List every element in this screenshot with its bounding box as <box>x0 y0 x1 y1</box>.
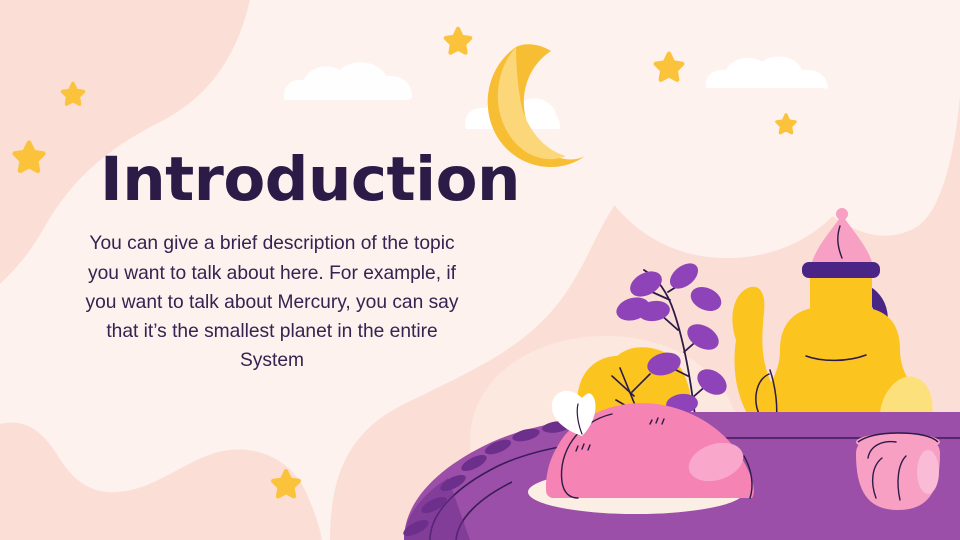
cloud-right-icon <box>706 56 828 88</box>
star-top-right-icon <box>656 54 682 80</box>
cloud-under-moon-icon <box>465 96 560 129</box>
purple-rug-icon <box>401 412 960 540</box>
rug-fringe-dots <box>401 420 571 540</box>
star-top-left-icon <box>63 84 84 105</box>
cloud-left-icon <box>284 62 412 100</box>
blob-bottom-left <box>0 422 322 540</box>
yellow-leaves-icon <box>577 347 691 454</box>
cream-plate-icon <box>528 470 744 514</box>
slide-body-text: You can give a brief description of the … <box>78 229 466 375</box>
slide-canvas: Introduction You can give a brief descri… <box>0 0 960 540</box>
star-top-center-icon <box>446 29 470 53</box>
page-title: Introduction <box>78 148 498 211</box>
pink-cushion-icon <box>546 403 754 498</box>
purple-leaf-branch-icon <box>614 258 732 424</box>
white-heart-leaf-icon <box>552 391 596 436</box>
pink-cup-icon <box>856 433 940 510</box>
yellow-teapot-icon <box>732 208 940 498</box>
cream-halo <box>470 336 740 508</box>
star-right-small-icon <box>777 115 795 133</box>
star-bottom-left-icon <box>273 471 299 496</box>
star-left-upper-icon <box>15 143 43 171</box>
slide-text-block: Introduction You can give a brief descri… <box>78 148 498 375</box>
